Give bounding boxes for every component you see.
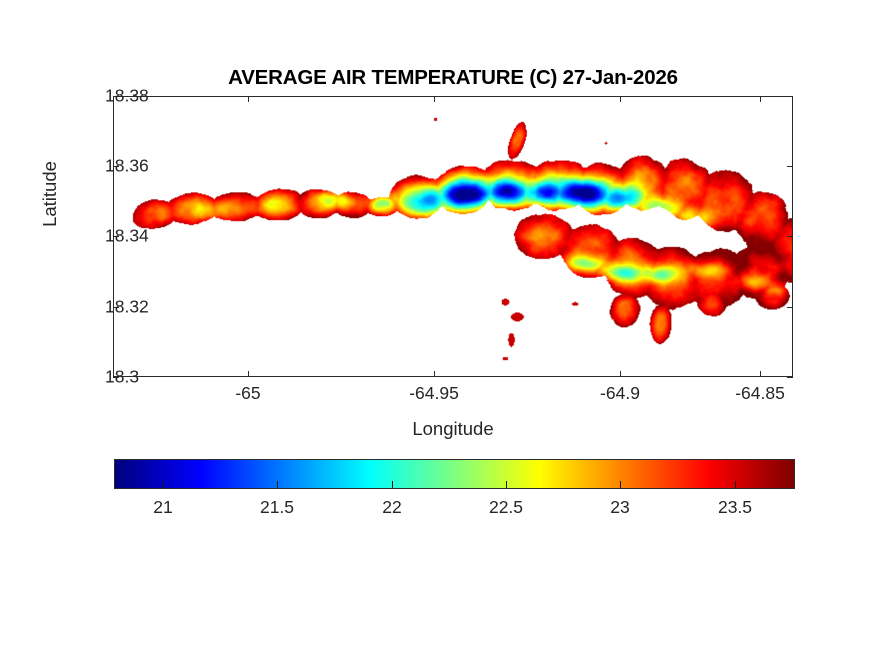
colorbar-tick-mark [620, 481, 621, 488]
colorbar-tick-mark [506, 481, 507, 488]
y-axis-label: Latitude [39, 99, 61, 289]
x-tick-label: -64.95 [409, 383, 459, 404]
colorbar-tick-mark [735, 481, 736, 488]
colorbar-tick-mark [163, 481, 164, 488]
y-tick-mark [787, 166, 793, 167]
colorbar-tick-label: 22 [382, 497, 401, 518]
x-tick-mark [620, 371, 621, 377]
x-tick-mark [434, 96, 435, 102]
x-tick-mark [248, 371, 249, 377]
colorbar-tick-mark [392, 481, 393, 488]
temperature-heatmap[interactable] [114, 97, 792, 376]
x-axis-label: Longitude [113, 418, 793, 440]
y-tick-mark [787, 96, 793, 97]
colorbar-gradient[interactable] [114, 459, 795, 489]
x-tick-mark [248, 96, 249, 102]
x-tick-label: -64.9 [600, 383, 640, 404]
colorbar-tick-label: 22.5 [489, 497, 523, 518]
x-tick-label: -65 [235, 383, 260, 404]
colorbar-tick-label: 23 [610, 497, 629, 518]
x-tick-mark [620, 96, 621, 102]
x-tick-mark [760, 371, 761, 377]
y-tick-mark [787, 236, 793, 237]
x-tick-mark [434, 371, 435, 377]
y-tick-mark [787, 377, 793, 378]
colorbar[interactable] [114, 459, 795, 489]
y-tick-mark [787, 307, 793, 308]
figure-canvas: AVERAGE AIR TEMPERATURE (C) 27-Jan-2026 … [0, 0, 875, 656]
page-title: AVERAGE AIR TEMPERATURE (C) 27-Jan-2026 [113, 66, 793, 90]
colorbar-tick-mark [277, 481, 278, 488]
colorbar-tick-label: 23.5 [718, 497, 752, 518]
x-tick-mark [760, 96, 761, 102]
map-axes[interactable] [113, 96, 793, 377]
colorbar-tick-label: 21.5 [260, 497, 294, 518]
colorbar-tick-label: 21 [153, 497, 172, 518]
x-tick-label: -64.85 [735, 383, 785, 404]
